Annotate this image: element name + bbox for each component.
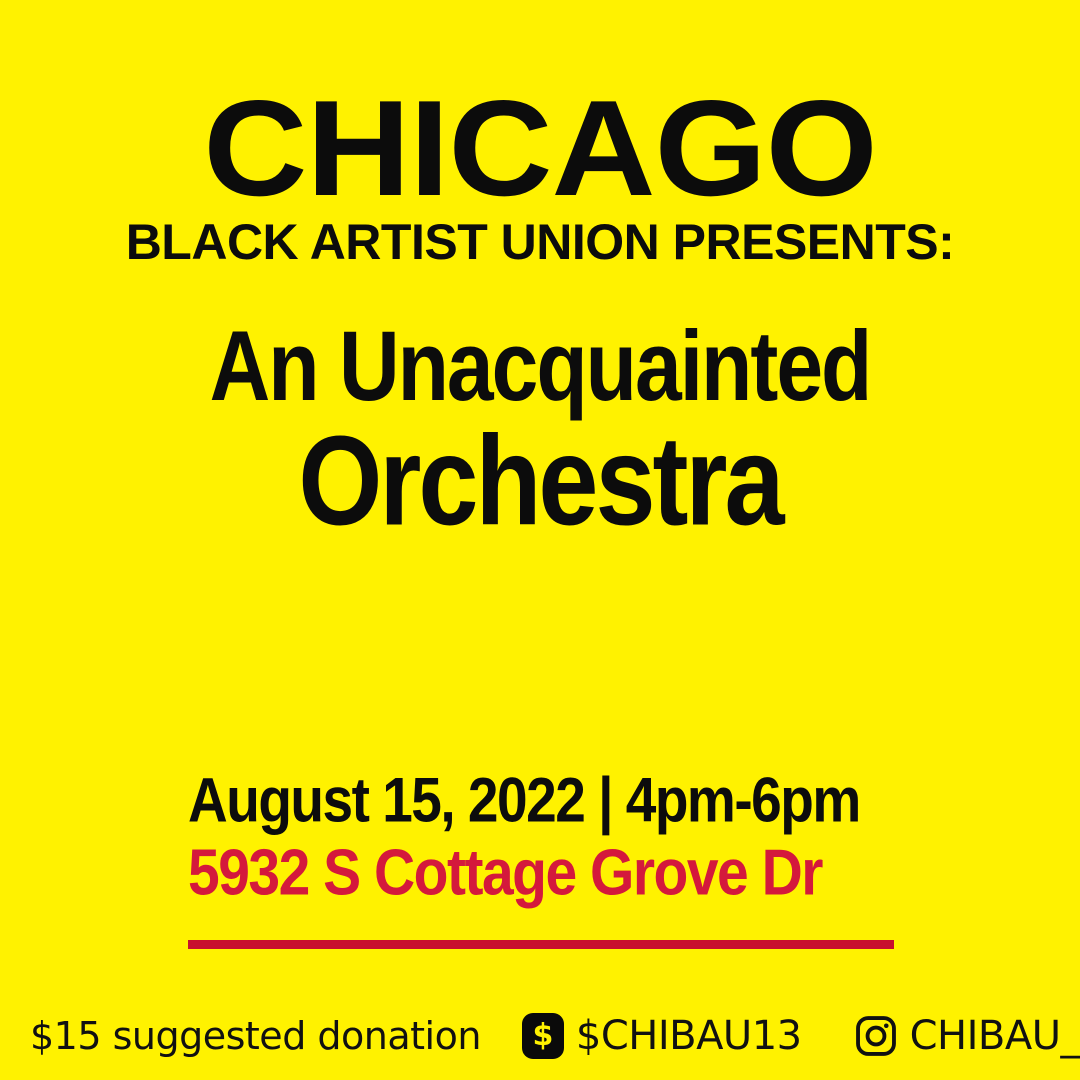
divider-rule [188, 940, 894, 949]
footer-bar: $15 suggested donation $ $CHIBAU13 CHIBA… [0, 1006, 1080, 1066]
header-block: CHICAGO BLACK ARTIST UNION PRESENTS: [0, 86, 1080, 267]
event-address: 5932 S Cottage Grove Dr [188, 840, 894, 908]
cashapp-handle[interactable]: $ $CHIBAU13 [522, 1013, 802, 1059]
event-date-time: August 15, 2022 | 4pm-6pm [188, 768, 894, 834]
instagram-handle-label: CHIBAU_ [910, 1013, 1080, 1059]
presenter-subtitle: BLACK ARTIST UNION PRESENTS: [0, 217, 1080, 267]
cashapp-icon: $ [522, 1013, 564, 1059]
event-title-block: An Unacquainted Orchestra [0, 316, 1080, 526]
instagram-icon [854, 1014, 898, 1058]
cashapp-handle-label: $CHIBAU13 [576, 1013, 802, 1059]
event-poster: CHICAGO BLACK ARTIST UNION PRESENTS: An … [0, 0, 1080, 1080]
dollar-glyph: $ [532, 1021, 553, 1051]
event-title-line-1: An Unacquainted [0, 316, 1080, 417]
page-title: CHICAGO [0, 86, 1080, 211]
donation-note: $15 suggested donation [30, 1014, 481, 1058]
event-title-line-2: Orchestra [0, 416, 1080, 546]
event-details-block: August 15, 2022 | 4pm-6pm 5932 S Cottage… [188, 768, 894, 949]
instagram-handle[interactable]: CHIBAU_ [854, 1013, 1080, 1059]
